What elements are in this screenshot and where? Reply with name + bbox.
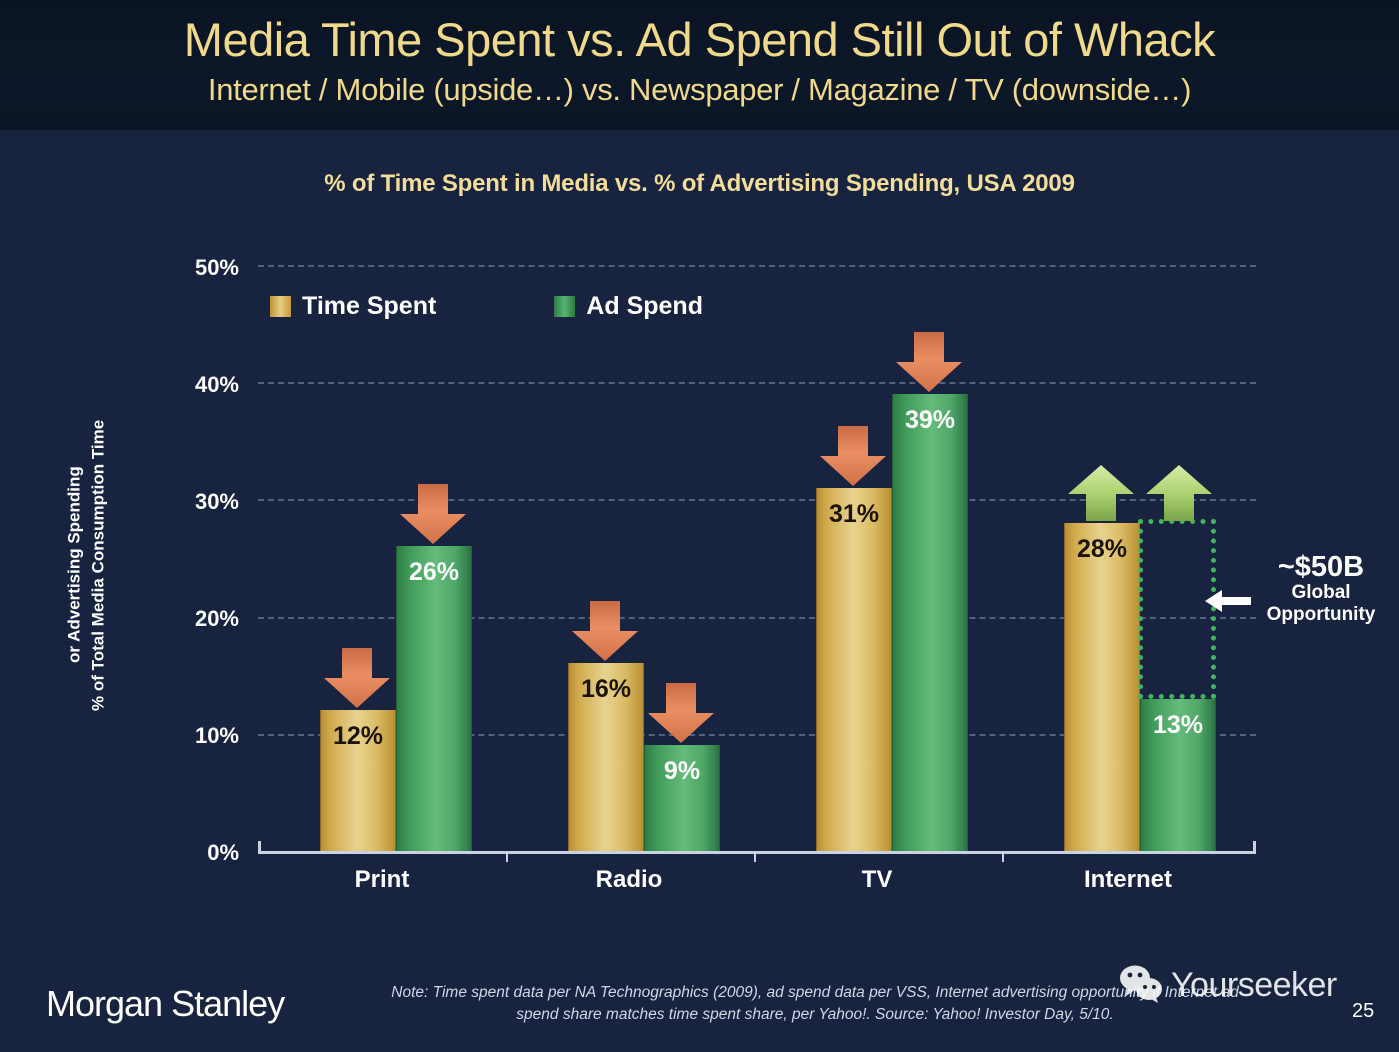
y-tick-0: 0% [159, 840, 239, 866]
chart-title: % of Time Spent in Media vs. % of Advert… [0, 170, 1399, 198]
x-tick-3 [1002, 851, 1004, 862]
x-label-print: Print [272, 866, 492, 894]
y-axis-title-line-1: % of Total Media Consumption Time [86, 330, 110, 800]
bar-label-internet-ad-spend: 13% [1141, 711, 1215, 740]
page-number: 25 [1352, 1000, 1374, 1023]
arrow-down-icon-tv-ad-spend [892, 332, 966, 394]
x-axis-cap-right [1253, 841, 1256, 853]
slide-header: Media Time Spent vs. Ad Spend Still Out … [0, 0, 1399, 130]
y-tick-20: 20% [159, 606, 239, 632]
y-axis-title-line-2: or Advertising Spending [62, 330, 86, 800]
callout-arrow-left-icon [1205, 588, 1251, 614]
y-tick-30: 30% [159, 489, 239, 515]
bar-print-time-spent[interactable]: 12% [320, 710, 396, 851]
legend-swatch-ad-spend [554, 296, 575, 317]
bar-label-tv-time-spent: 31% [817, 500, 891, 529]
wechat-icon [1118, 963, 1164, 1008]
bar-label-radio-time-spent: 16% [569, 675, 643, 704]
x-axis-cap-left [258, 841, 261, 853]
legend-item-time-spent[interactable]: Time Spent [270, 292, 436, 321]
page-title: Media Time Spent vs. Ad Spend Still Out … [0, 12, 1399, 67]
y-axis-title: % of Total Media Consumption Time or Adv… [58, 330, 118, 800]
legend-swatch-time-spent [270, 296, 291, 317]
x-label-internet: Internet [1018, 866, 1238, 894]
bar-group-internet: 28% 13% [1064, 265, 1224, 851]
y-tick-40: 40% [159, 372, 239, 398]
bar-group-radio: 16% 9% [568, 265, 718, 851]
legend-label-ad-spend: Ad Spend [586, 292, 703, 321]
bar-print-ad-spend[interactable]: 26% [396, 546, 472, 851]
watermark-text: Yourseeker [1171, 966, 1337, 1005]
arrow-down-icon-radio-ad-spend [644, 683, 718, 745]
y-tick-10: 10% [159, 723, 239, 749]
chart-legend: Time Spent Ad Spend [270, 292, 703, 321]
bar-radio-time-spent[interactable]: 16% [568, 663, 644, 851]
bar-internet-time-spent[interactable]: 28% [1064, 523, 1140, 851]
legend-label-time-spent: Time Spent [302, 292, 436, 321]
arrow-down-icon-radio-time-spent [568, 601, 642, 663]
x-tick-2 [754, 851, 756, 862]
arrow-up-icon-internet-ad-spend [1142, 465, 1216, 523]
opportunity-callout: ~$50B Global Opportunity [1246, 552, 1396, 625]
plot-area: 12% 26% 16% 9% [258, 265, 1256, 851]
bar-group-tv: 31% 39% [816, 265, 966, 851]
bar-label-internet-time-spent: 28% [1065, 535, 1139, 564]
page-subtitle: Internet / Mobile (upside…) vs. Newspape… [0, 72, 1399, 108]
arrow-down-icon-print-time-spent [320, 648, 394, 710]
bar-group-print: 12% 26% [320, 265, 470, 851]
callout-headline: ~$50B [1246, 552, 1396, 582]
x-label-tv: TV [767, 866, 987, 894]
arrow-down-icon-tv-time-spent [816, 426, 890, 488]
bar-internet-ad-spend[interactable]: 13% [1140, 699, 1216, 851]
watermark: Yourseeker [1118, 963, 1337, 1008]
x-label-radio: Radio [519, 866, 739, 894]
bar-radio-ad-spend[interactable]: 9% [644, 745, 720, 851]
morgan-stanley-logo: Morgan Stanley [46, 983, 284, 1025]
y-tick-50: 50% [159, 255, 239, 281]
arrow-down-icon-print-ad-spend [396, 484, 470, 546]
bar-label-tv-ad-spend: 39% [893, 406, 967, 435]
bar-tv-ad-spend[interactable]: 39% [892, 394, 968, 851]
bar-label-radio-ad-spend: 9% [645, 757, 719, 786]
legend-item-ad-spend[interactable]: Ad Spend [554, 292, 703, 321]
arrow-up-icon-internet-time-spent [1064, 465, 1138, 523]
bar-label-print-ad-spend: 26% [397, 558, 471, 587]
x-axis-line [258, 851, 1256, 854]
callout-line-2: Global [1246, 582, 1396, 603]
bar-tv-time-spent[interactable]: 31% [816, 488, 892, 851]
callout-line-3: Opportunity [1246, 604, 1396, 625]
x-tick-1 [506, 851, 508, 862]
bar-label-print-time-spent: 12% [321, 722, 395, 751]
